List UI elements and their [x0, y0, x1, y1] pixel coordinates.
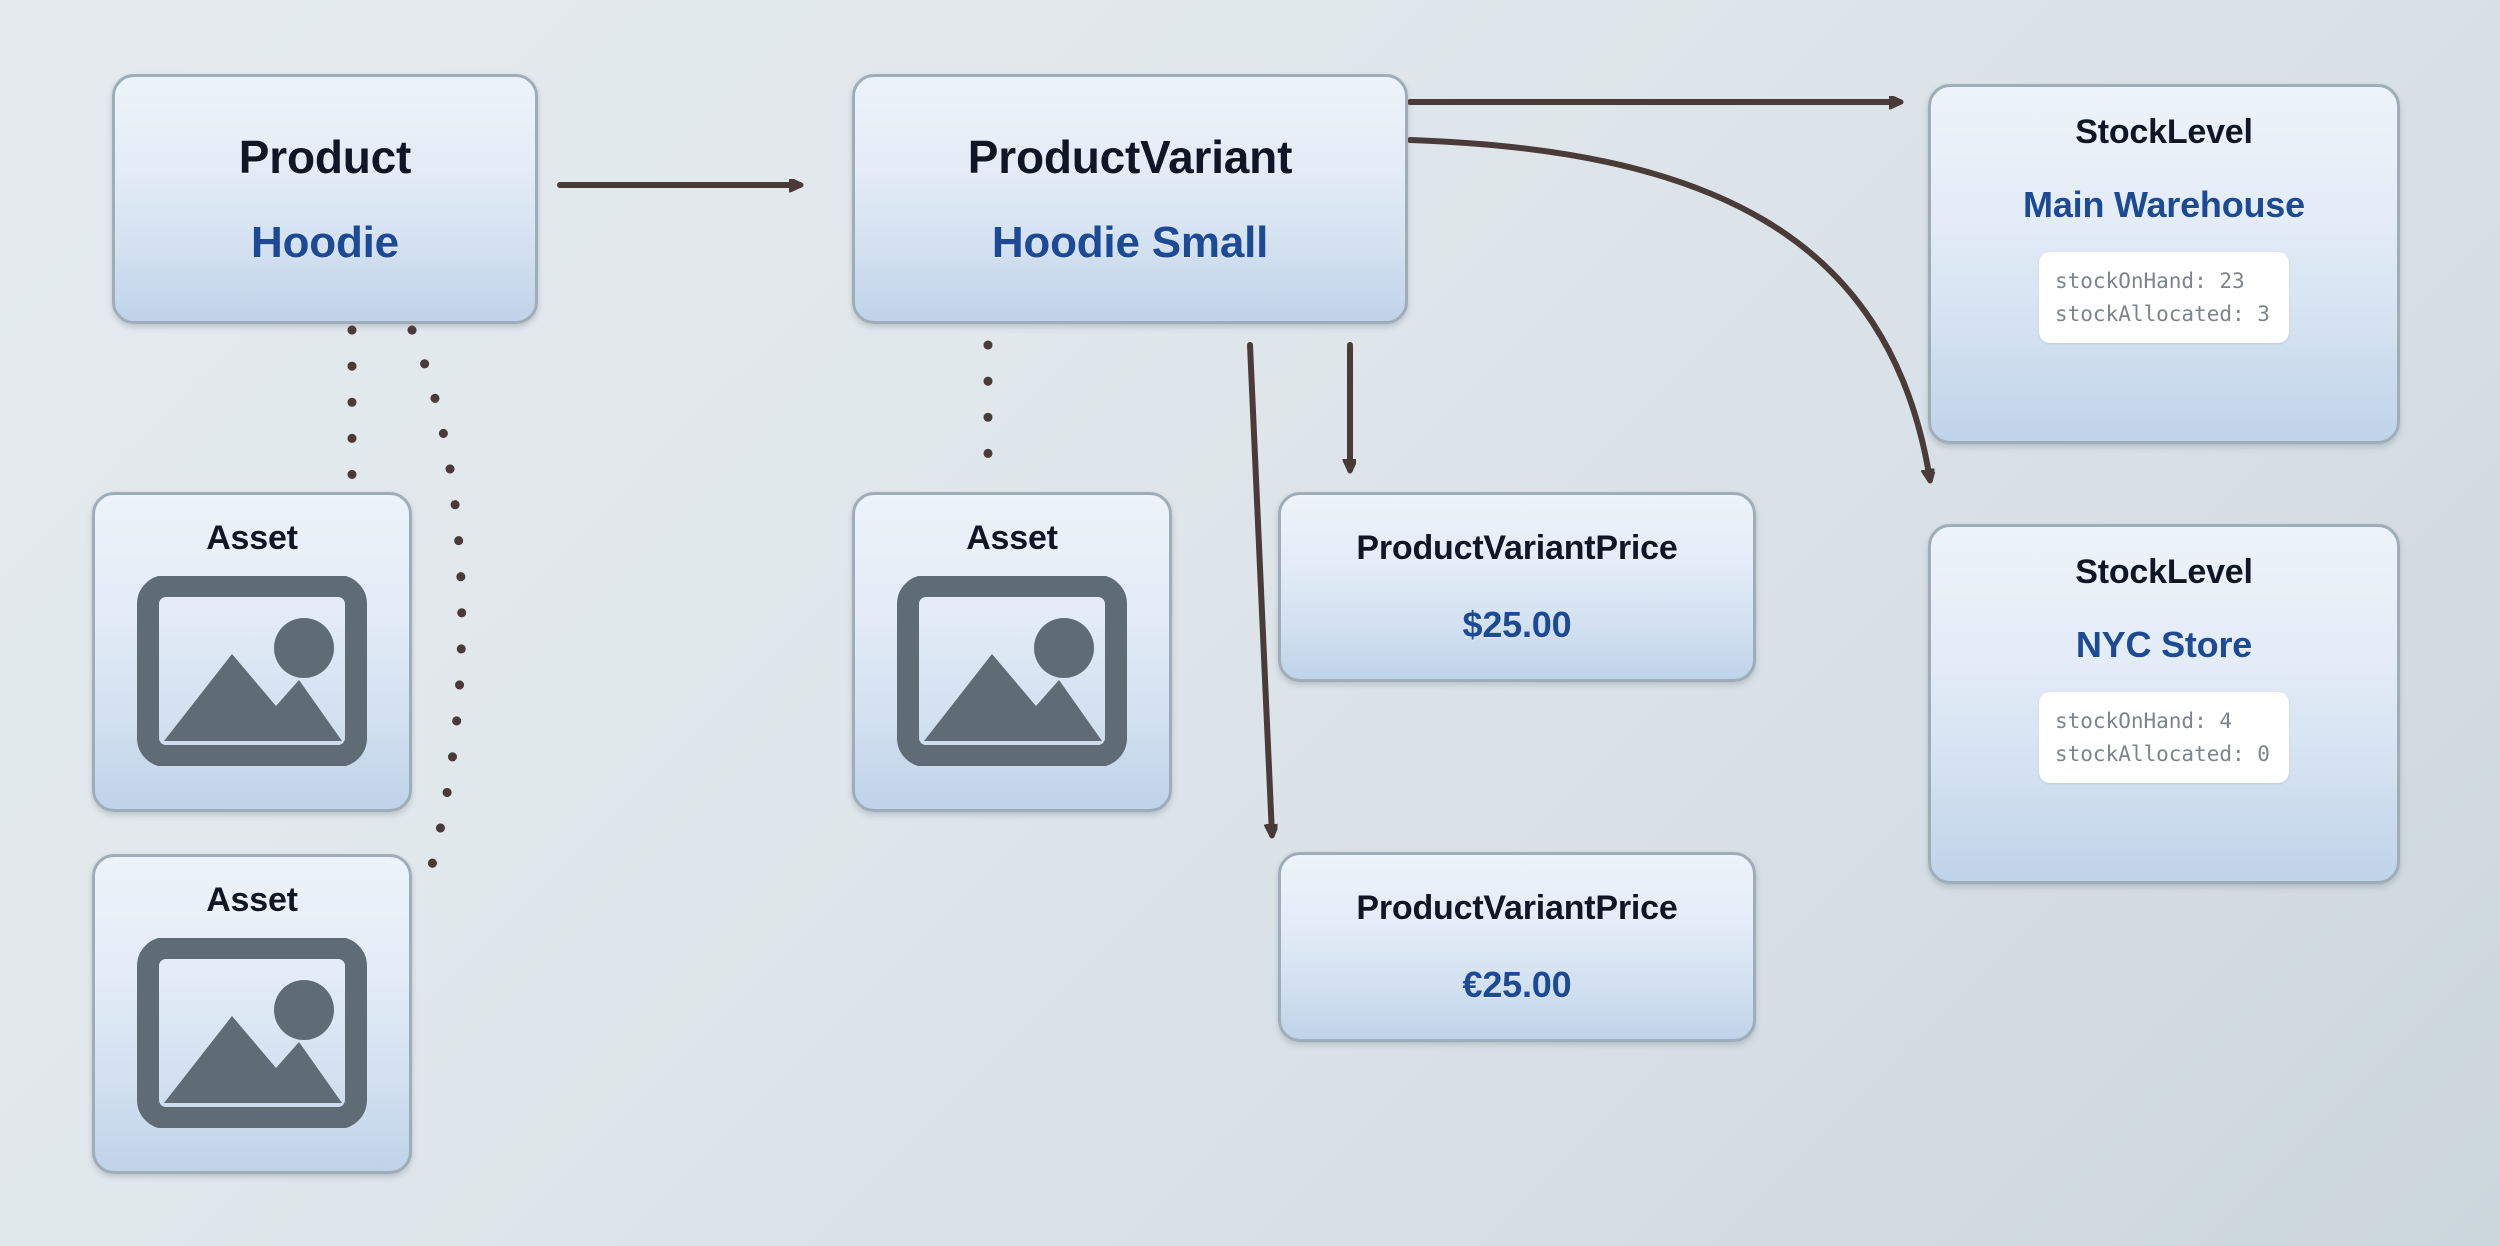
node-title: StockLevel — [2075, 113, 2253, 152]
node-asset-product-2[interactable]: Asset — [92, 854, 412, 1174]
node-price-usd[interactable]: ProductVariantPrice $25.00 — [1278, 492, 1756, 682]
node-asset-variant-1[interactable]: Asset — [852, 492, 1172, 812]
image-placeholder-icon — [896, 576, 1128, 771]
node-subtitle: €25.00 — [1463, 964, 1572, 1006]
node-stock-main-warehouse[interactable]: StockLevel Main Warehouse stockOnHand: 2… — [1928, 84, 2400, 444]
node-title: Asset — [206, 881, 298, 920]
node-title: Product — [239, 130, 411, 184]
edge-product-to-asset-2 — [412, 330, 462, 865]
stock-fields-panel: stockOnHand: 23 stockAllocated: 3 — [2039, 252, 2289, 343]
node-title: ProductVariantPrice — [1356, 889, 1677, 928]
image-placeholder-icon — [136, 576, 368, 771]
node-stock-nyc-store[interactable]: StockLevel NYC Store stockOnHand: 4 stoc… — [1928, 524, 2400, 884]
edge-variant-to-stock-nyc — [1410, 140, 1930, 480]
node-title: Asset — [206, 519, 298, 558]
node-product-variant[interactable]: ProductVariant Hoodie Small — [852, 74, 1408, 324]
stock-field-on-hand: stockOnHand: 23 — [2055, 265, 2273, 298]
node-title: StockLevel — [2075, 553, 2253, 592]
stock-fields-panel: stockOnHand: 4 stockAllocated: 0 — [2039, 692, 2289, 783]
node-title: ProductVariant — [968, 130, 1292, 184]
image-placeholder-icon — [136, 938, 368, 1133]
node-product[interactable]: Product Hoodie — [112, 74, 538, 324]
node-subtitle: $25.00 — [1463, 604, 1572, 646]
stock-field-allocated: stockAllocated: 0 — [2055, 738, 2273, 771]
node-subtitle: Hoodie — [251, 218, 399, 268]
node-subtitle: NYC Store — [2076, 624, 2252, 666]
node-subtitle: Main Warehouse — [2023, 184, 2305, 226]
edge-variant-to-price-eur — [1250, 345, 1272, 835]
node-subtitle: Hoodie Small — [992, 218, 1268, 268]
node-title: ProductVariantPrice — [1356, 529, 1677, 568]
diagram-canvas: Product Hoodie ProductVariant Hoodie Sma… — [0, 0, 2500, 1246]
node-price-eur[interactable]: ProductVariantPrice €25.00 — [1278, 852, 1756, 1042]
stock-field-on-hand: stockOnHand: 4 — [2055, 705, 2273, 738]
stock-field-allocated: stockAllocated: 3 — [2055, 298, 2273, 331]
node-asset-product-1[interactable]: Asset — [92, 492, 412, 812]
node-title: Asset — [966, 519, 1058, 558]
